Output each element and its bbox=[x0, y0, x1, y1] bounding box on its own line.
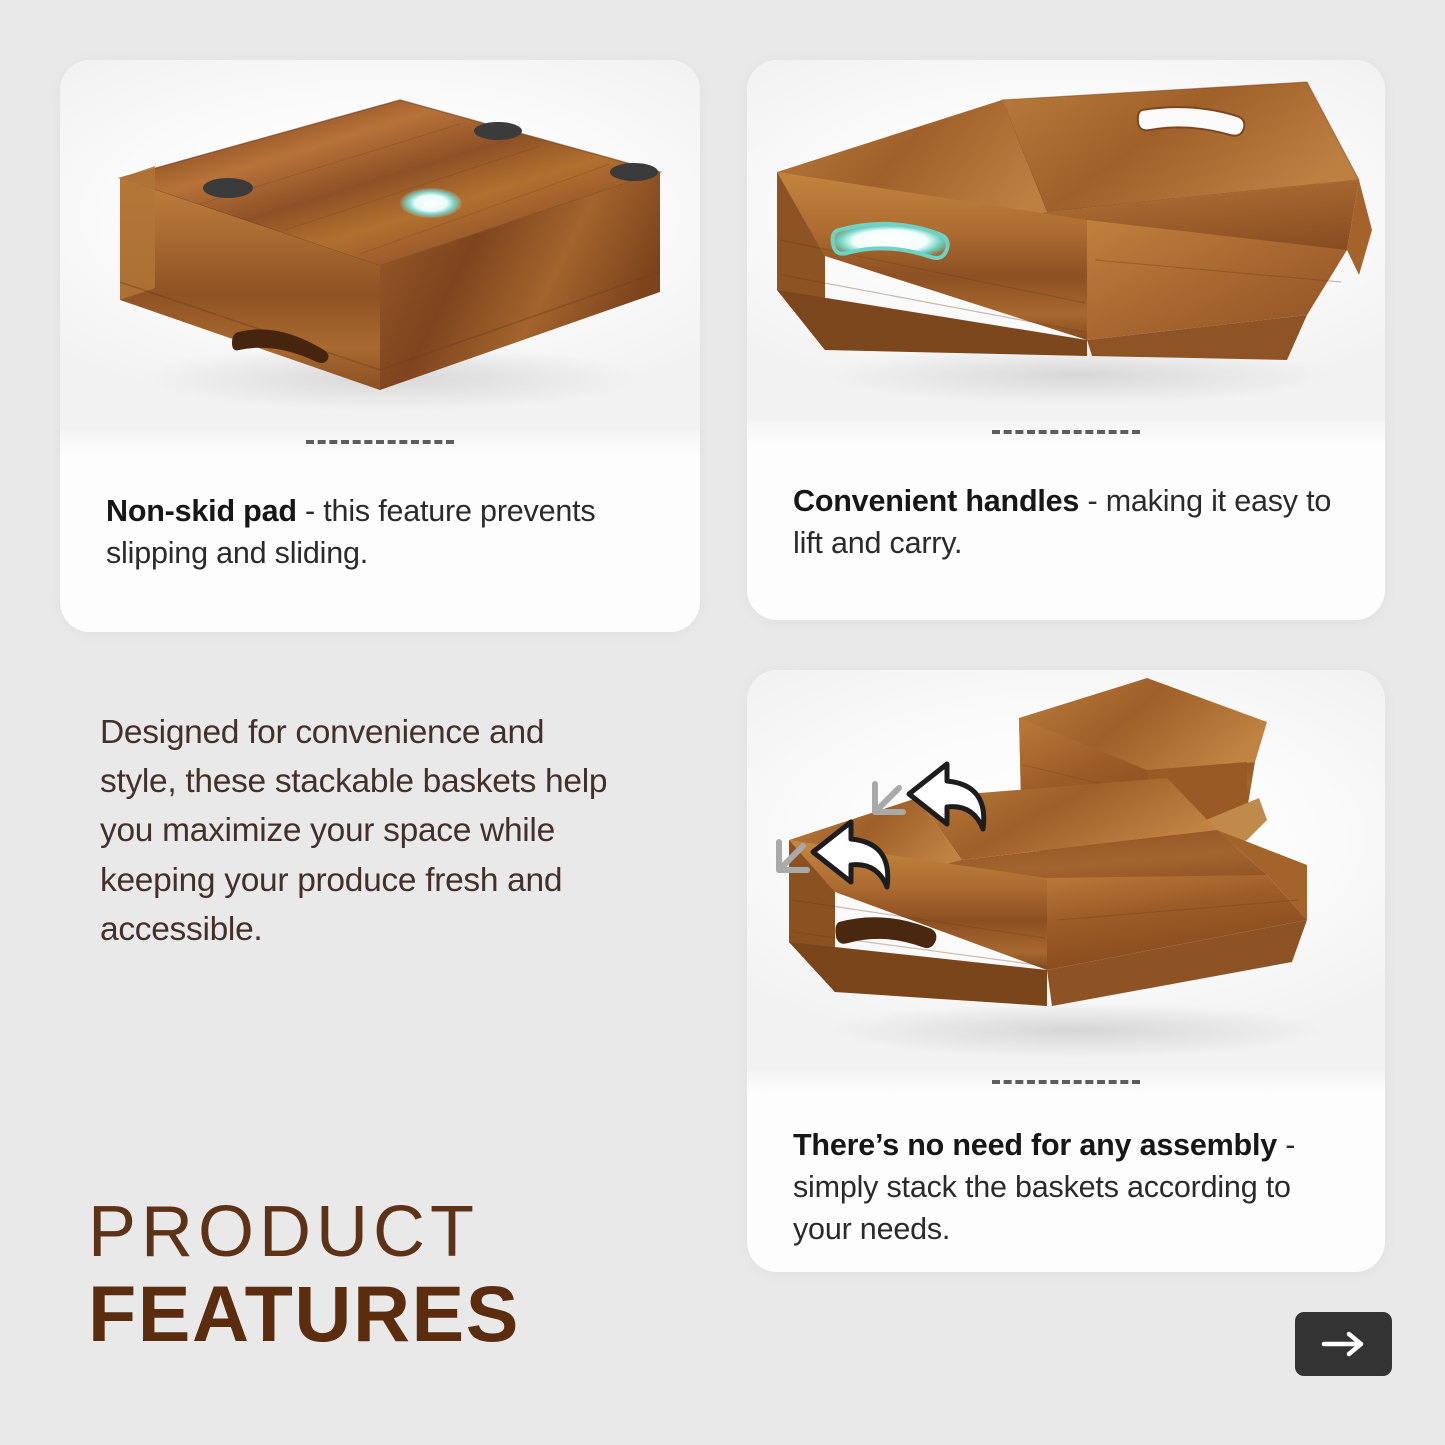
product-photo-convenient-handles bbox=[747, 60, 1385, 420]
product-features-infographic: Non-skid pad - this feature prevents sli… bbox=[0, 0, 1445, 1445]
non-skid-pad bbox=[203, 178, 253, 198]
non-skid-pad bbox=[474, 122, 522, 140]
title-line-product: PRODUCT bbox=[88, 1196, 520, 1269]
dashed-line bbox=[306, 440, 454, 444]
dashed-divider bbox=[747, 420, 1385, 444]
product-photo-stacking-baskets bbox=[747, 670, 1385, 1070]
feature-title: Non-skid pad bbox=[106, 494, 297, 528]
feature-caption-non-skid-pad: Non-skid pad - this feature prevents sli… bbox=[60, 454, 700, 574]
feature-card-convenient-handles: Convenient handles - making it easy to l… bbox=[747, 60, 1385, 620]
dashed-line bbox=[992, 1080, 1140, 1084]
dashed-divider bbox=[60, 430, 700, 454]
arrow-right-icon bbox=[1321, 1331, 1367, 1357]
feature-card-no-assembly: There’s no need for any assembly - simpl… bbox=[747, 670, 1385, 1272]
feature-title: There’s no need for any assembly bbox=[793, 1128, 1277, 1162]
feature-title: Convenient handles bbox=[793, 484, 1079, 518]
next-button[interactable] bbox=[1295, 1312, 1392, 1376]
dashed-divider bbox=[747, 1070, 1385, 1094]
feature-card-non-skid-pad: Non-skid pad - this feature prevents sli… bbox=[60, 60, 700, 632]
title-line-features: FEATURES bbox=[88, 1273, 520, 1356]
page-title: PRODUCT FEATURES bbox=[88, 1196, 520, 1356]
stacked-baskets-illustration bbox=[747, 670, 1385, 1070]
feature-caption-no-assembly: There’s no need for any assembly - simpl… bbox=[747, 1094, 1385, 1250]
basket-underside-illustration bbox=[60, 60, 700, 430]
feature-caption-convenient-handles: Convenient handles - making it easy to l… bbox=[747, 444, 1385, 564]
product-photo-non-skid-pad bbox=[60, 60, 700, 430]
basket-handles-illustration bbox=[747, 60, 1385, 420]
dashed-line bbox=[992, 430, 1140, 434]
non-skid-pad-highlighted bbox=[400, 188, 462, 218]
intro-description: Designed for convenience and style, thes… bbox=[100, 708, 620, 954]
non-skid-pad bbox=[610, 163, 658, 181]
